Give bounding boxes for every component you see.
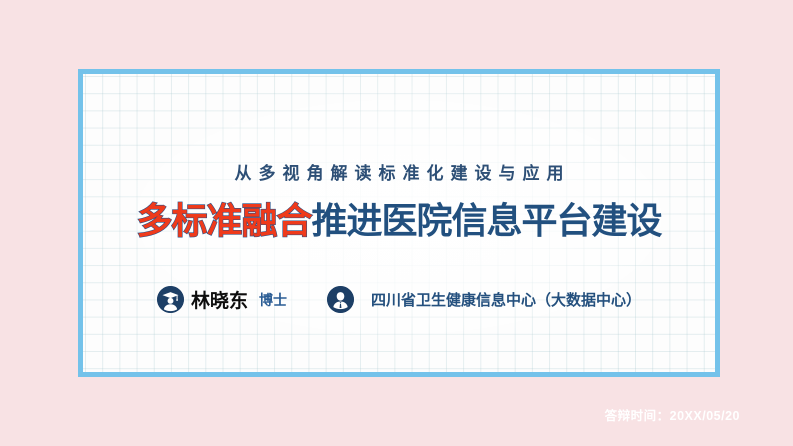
presenter-degree: 博士 xyxy=(259,290,287,310)
person-avatar-icon xyxy=(327,286,354,313)
card-content: 从多视角解读标准化建设与应用 多标准融合推进医院信息平台建设 林晓东 博士 xyxy=(83,74,715,372)
affiliation-block: 四川省卫生健康信息中心（大数据中心） xyxy=(327,286,641,313)
footer-date-label: 答辩时间：20XX/05/20 xyxy=(605,405,740,424)
title-slide: 从多视角解读标准化建设与应用 多标准融合推进医院信息平台建设 林晓东 博士 xyxy=(0,0,793,446)
title-highlight-text: 多标准融合 xyxy=(136,200,311,241)
slide-main-title: 多标准融合推进医院信息平台建设 xyxy=(83,199,715,243)
presenter-block: 林晓东 博士 xyxy=(157,286,287,313)
graduate-avatar-icon xyxy=(157,286,184,313)
slide-card-frame: 从多视角解读标准化建设与应用 多标准融合推进医院信息平台建设 林晓东 博士 xyxy=(78,69,720,377)
title-remainder-text: 推进医院信息平台建设 xyxy=(312,200,662,241)
affiliation-text: 四川省卫生健康信息中心（大数据中心） xyxy=(371,289,641,310)
presenter-name: 林晓东 xyxy=(191,286,248,313)
presenter-row: 林晓东 博士 四川省卫生健康信息中心（大数据中心） xyxy=(83,286,715,313)
slide-subtitle: 从多视角解读标准化建设与应用 xyxy=(83,159,715,184)
